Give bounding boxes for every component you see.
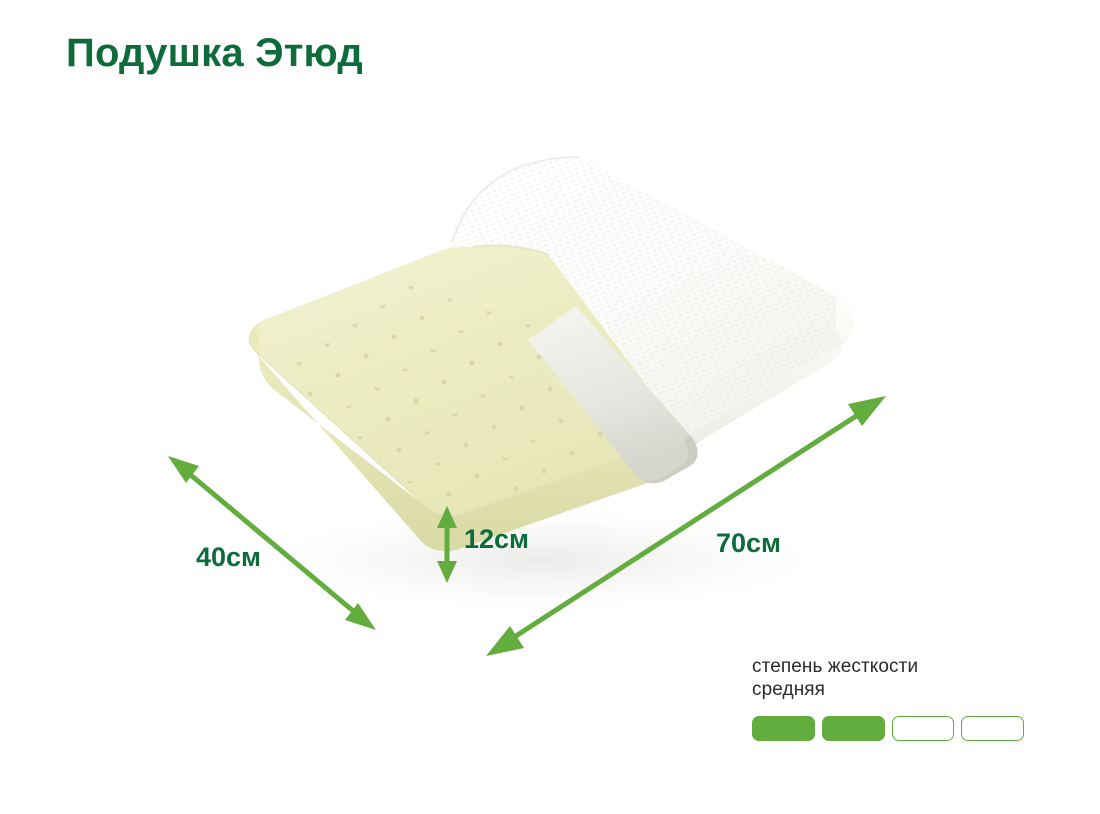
firmness-segment-2	[822, 716, 885, 741]
cover-back-face	[449, 156, 854, 433]
dimension-label-length: 70см	[716, 528, 781, 559]
foam-cover-seam	[472, 245, 548, 254]
firmness-scale	[752, 716, 1024, 741]
foam-edge-crease	[257, 353, 660, 515]
firmness-segment-3	[892, 716, 955, 741]
firmness-caption-line2: средняя	[752, 678, 1024, 701]
ventilation-dimples	[297, 285, 603, 497]
firmness-segment-4	[961, 716, 1024, 741]
dimension-arrow-height	[437, 506, 457, 583]
dimension-arrow-length	[486, 396, 886, 656]
firmness-caption-line1: степень жесткости	[752, 655, 1024, 678]
firmness-segment-1	[752, 716, 815, 741]
foam-front-face	[250, 320, 264, 353]
cover-top-crease	[452, 157, 578, 243]
page-title: Подушка Этюд	[66, 31, 363, 76]
firmness-indicator: степень жесткости средняя	[752, 655, 1024, 741]
cover-wrap-side	[644, 432, 700, 449]
cover-sleeve-shadow	[636, 435, 698, 483]
foam-side-wall	[249, 323, 675, 551]
foam-top-face	[250, 245, 674, 515]
dimension-label-width: 40см	[196, 542, 261, 573]
firmness-caption: степень жесткости средняя	[752, 655, 1024, 701]
pillow-shadow	[250, 508, 830, 612]
cover-wrap-face	[644, 296, 854, 448]
cover-sleeve-front	[528, 306, 698, 483]
dimension-label-height: 12см	[464, 524, 529, 555]
